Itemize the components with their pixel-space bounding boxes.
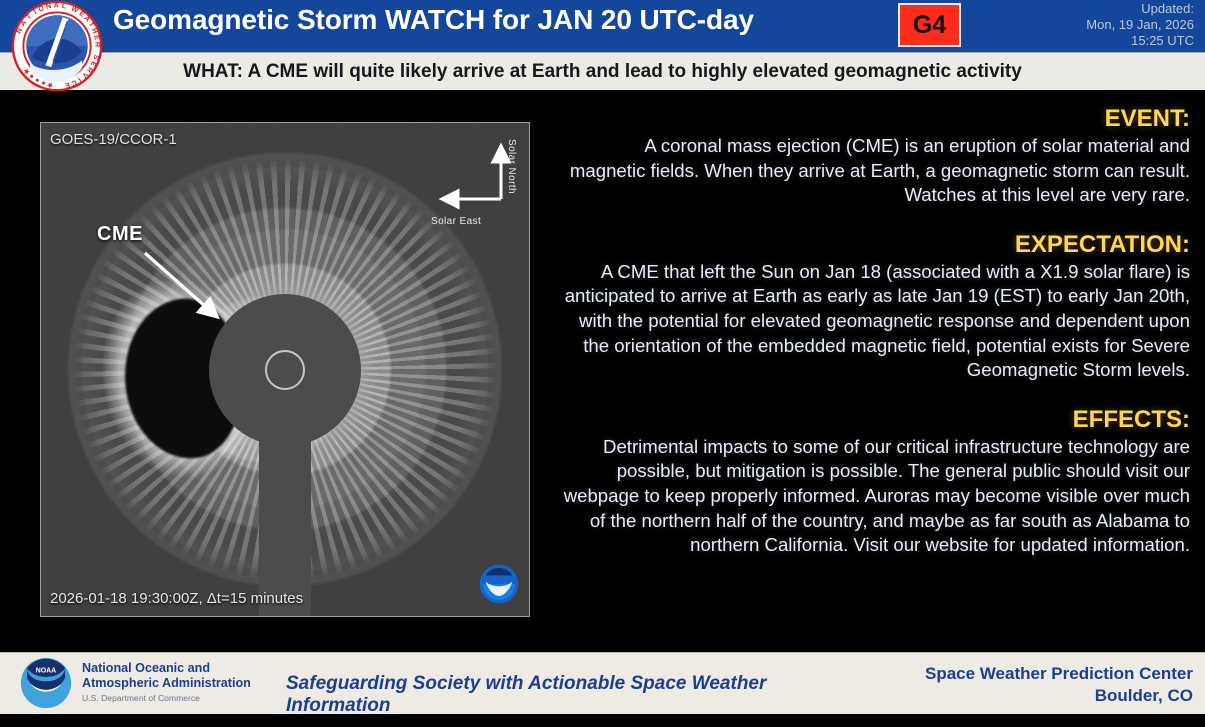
nws-seal-icon: N A T I O N A L W E A T H E R S E R V I …: [9, 0, 105, 94]
section-expectation: EXPECTATION: A CME that left the Sun on …: [560, 230, 1190, 383]
updated-time: 15:25 UTC: [964, 33, 1194, 49]
storm-scale-level: G4: [913, 11, 946, 40]
section-heading: EXPECTATION:: [560, 230, 1190, 260]
prediction-center-block: Space Weather Prediction Center Boulder,…: [863, 663, 1193, 707]
status-badge: G4: [898, 3, 961, 47]
section-body: Detrimental impacts to some of our criti…: [560, 435, 1190, 558]
content-area: GOES-19/CCOR-1 2026-01-18 19:30:00Z, Δt=…: [0, 90, 1205, 652]
section-body: A coronal mass ejection (CME) is an erup…: [560, 134, 1190, 208]
solar-north-label: Solar North: [506, 139, 517, 194]
agency-name-line1: National Oceanic and: [82, 661, 251, 676]
footer-black-strip: [0, 714, 1205, 727]
section-body: A CME that left the Sun on Jan 18 (assoc…: [560, 260, 1190, 383]
section-event: EVENT: A coronal mass ejection (CME) is …: [560, 104, 1190, 208]
footer-bar: NOAA National Oceanic and Atmospheric Ad…: [0, 652, 1205, 714]
department-name: U.S. Department of Commerce: [82, 693, 200, 703]
noaa-seal-icon: [479, 564, 519, 604]
center-name: Space Weather Prediction Center: [863, 663, 1193, 685]
coronagraph-image-panel: GOES-19/CCOR-1 2026-01-18 19:30:00Z, Δt=…: [40, 122, 530, 617]
center-location: Boulder, CO: [863, 685, 1193, 707]
section-heading: EFFECTS:: [560, 405, 1190, 435]
svg-text:R: R: [93, 42, 101, 47]
svg-text:NOAA: NOAA: [36, 668, 56, 675]
what-summary-text: WHAT: A CME will quite likely arrive at …: [0, 53, 1205, 91]
noaa-seal-icon: NOAA: [20, 657, 72, 709]
alert-text-column: EVENT: A coronal mass ejection (CME) is …: [560, 104, 1190, 576]
updated-timestamp: Updated: Mon, 19 Jan, 2026 15:25 UTC: [964, 1, 1194, 49]
cme-pointer-arrow-icon: [141, 249, 251, 339]
header-bar: Geomagnetic Storm WATCH for JAN 20 UTC-d…: [0, 0, 1205, 52]
svg-text:A: A: [54, 2, 59, 10]
updated-label: Updated:: [964, 1, 1194, 17]
space-weather-alert-graphic: Geomagnetic Storm WATCH for JAN 20 UTC-d…: [0, 0, 1205, 727]
agency-name: National Oceanic and Atmospheric Adminis…: [82, 661, 251, 690]
updated-date: Mon, 19 Jan, 2026: [964, 17, 1194, 33]
cme-annotation-label: CME: [97, 223, 143, 246]
page-title: Geomagnetic Storm WATCH for JAN 20 UTC-d…: [113, 4, 754, 36]
tagline-text: Safeguarding Society with Actionable Spa…: [286, 673, 866, 717]
section-heading: EVENT:: [560, 104, 1190, 134]
what-summary-bar: WHAT: A CME will quite likely arrive at …: [0, 52, 1205, 90]
image-timestamp: 2026-01-18 19:30:00Z, Δt=15 minutes: [50, 590, 303, 607]
agency-name-line2: Atmospheric Administration: [82, 676, 251, 691]
instrument-label: GOES-19/CCOR-1: [50, 131, 177, 148]
section-effects: EFFECTS: Detrimental impacts to some of …: [560, 405, 1190, 558]
compass-orientation-indicator: Solar North Solar East: [427, 137, 519, 227]
solar-east-label: Solar East: [431, 216, 481, 227]
